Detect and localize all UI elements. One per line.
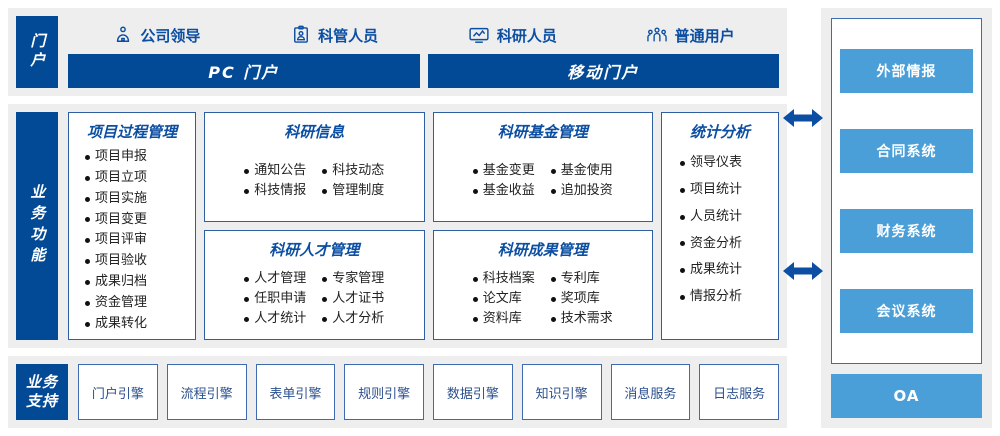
list-item[interactable]: 资料库 <box>473 310 535 329</box>
list-item[interactable]: 通知公告 <box>244 162 306 181</box>
support-label-line2: 支持 <box>26 392 58 412</box>
list-item[interactable]: 追加投资 <box>551 182 613 201</box>
business-functions-label: 业务功能 <box>16 112 58 340</box>
role-company-leader[interactable]: 公司领导 <box>68 25 246 46</box>
service-message[interactable]: 消息服务 <box>611 364 691 420</box>
card-column-fund: 科研基金管理 基金变更 基金使用 基金收益 追加投资 科研成果管理 科技档案 专… <box>433 112 654 340</box>
service-log[interactable]: 日志服务 <box>699 364 779 420</box>
engine-knowledge[interactable]: 知识引擎 <box>522 364 602 420</box>
list-item[interactable]: 基金收益 <box>473 182 535 201</box>
list-item[interactable]: 资金分析 <box>680 235 772 254</box>
role-label: 科管人员 <box>318 25 378 46</box>
role-researcher[interactable]: 科研人员 <box>424 25 602 46</box>
card-research-achievement[interactable]: 科研成果管理 科技档案 专利库 论文库 奖项库 资料库 技术需求 <box>433 230 654 340</box>
list-item[interactable]: 项目验收 <box>85 252 189 271</box>
engine-workflow[interactable]: 流程引擎 <box>167 364 247 420</box>
external-system-oa[interactable]: OA <box>831 374 982 418</box>
user-leader-icon <box>113 25 133 45</box>
list-item[interactable]: 奖项库 <box>551 290 613 309</box>
role-research-admin[interactable]: 科管人员 <box>246 25 424 46</box>
list-item[interactable]: 专利库 <box>551 270 613 289</box>
engine-list: 门户引擎 流程引擎 表单引擎 规则引擎 数据引擎 知识引擎 消息服务 日志服务 <box>78 364 779 420</box>
list-item[interactable]: 基金变更 <box>473 162 535 181</box>
business-support-label: 业务 支持 <box>16 364 68 420</box>
external-system-meeting[interactable]: 会议系统 <box>840 289 973 333</box>
external-systems-column: 外部情报 合同系统 财务系统 会议系统 OA <box>795 0 1000 436</box>
list-item[interactable]: 任职申请 <box>244 290 306 309</box>
role-label: 公司领导 <box>140 25 200 46</box>
list-item[interactable]: 资金管理 <box>85 294 189 313</box>
card-item-grid: 基金变更 基金使用 基金收益 追加投资 <box>473 148 613 215</box>
card-item-list: 项目申报 项目立项 项目实施 项目变更 项目评审 项目验收 成果归档 资金管理 … <box>75 148 189 334</box>
card-research-talent[interactable]: 科研人才管理 人才管理 专家管理 任职申请 人才证书 人才统计 人才分析 <box>204 230 425 340</box>
engine-data[interactable]: 数据引擎 <box>433 364 513 420</box>
portal-bar-mobile[interactable]: 移动门户 <box>428 54 780 88</box>
main-column: 门户 公司领导 <box>0 0 795 436</box>
card-title: 项目过程管理 <box>87 121 177 142</box>
card-statistics-analysis[interactable]: 统计分析 领导仪表 项目统计 人员统计 资金分析 成果统计 情报分析 <box>661 112 779 340</box>
portal-bars: PC 门户 移动门户 <box>68 54 779 88</box>
card-research-info[interactable]: 科研信息 通知公告 科技动态 科技情报 管理制度 <box>204 112 425 222</box>
card-item-grid: 科技档案 专利库 论文库 奖项库 资料库 技术需求 <box>473 266 613 333</box>
card-title: 科研信息 <box>284 121 344 142</box>
id-badge-icon <box>291 25 311 45</box>
card-title: 科研成果管理 <box>498 239 588 260</box>
list-item[interactable]: 成果归档 <box>85 273 189 292</box>
list-item[interactable]: 项目评审 <box>85 231 189 250</box>
user-group-icon <box>646 25 668 45</box>
role-label: 科研人员 <box>497 25 557 46</box>
list-item[interactable]: 人才证书 <box>322 290 384 309</box>
list-item[interactable]: 人才分析 <box>322 310 384 329</box>
card-column-research: 科研信息 通知公告 科技动态 科技情报 管理制度 科研人才管理 人才管理 专家管… <box>204 112 425 340</box>
list-item[interactable]: 论文库 <box>473 290 535 309</box>
portal-bar-pc[interactable]: PC 门户 <box>68 54 420 88</box>
card-item-grid: 人才管理 专家管理 任职申请 人才证书 人才统计 人才分析 <box>244 266 384 333</box>
engine-portal[interactable]: 门户引擎 <box>78 364 158 420</box>
engine-rule[interactable]: 规则引擎 <box>344 364 424 420</box>
external-system-finance[interactable]: 财务系统 <box>840 209 973 253</box>
business-support-band: 业务 支持 门户引擎 流程引擎 表单引擎 规则引擎 数据引擎 知识引擎 消息服务… <box>8 356 787 428</box>
portal-band: 门户 公司领导 <box>8 8 787 96</box>
list-item[interactable]: 领导仪表 <box>680 154 772 173</box>
card-title: 科研基金管理 <box>498 121 588 142</box>
list-item[interactable]: 成果统计 <box>680 261 772 280</box>
card-research-fund[interactable]: 科研基金管理 基金变更 基金使用 基金收益 追加投资 <box>433 112 654 222</box>
list-item[interactable]: 项目变更 <box>85 211 189 230</box>
list-item[interactable]: 人员统计 <box>680 208 772 227</box>
portal-role-row: 公司领导 科管人员 <box>68 16 779 54</box>
list-item[interactable]: 科技情报 <box>244 182 306 201</box>
portal-band-label: 门户 <box>16 16 58 88</box>
external-systems-box: 外部情报 合同系统 财务系统 会议系统 <box>831 18 982 364</box>
external-system-intelligence[interactable]: 外部情报 <box>840 49 973 93</box>
card-item-list: 领导仪表 项目统计 人员统计 资金分析 成果统计 情报分析 <box>668 154 772 307</box>
list-item[interactable]: 情报分析 <box>680 288 772 307</box>
list-item[interactable]: 基金使用 <box>551 162 613 181</box>
support-label-line1: 业务 <box>26 373 58 393</box>
card-title: 科研人才管理 <box>269 239 359 260</box>
list-item[interactable]: 项目实施 <box>85 190 189 209</box>
list-item[interactable]: 项目统计 <box>680 181 772 200</box>
business-functions-band: 业务功能 项目过程管理 项目申报 项目立项 项目实施 项目变更 项目评审 项目验… <box>8 104 787 348</box>
list-item[interactable]: 科技档案 <box>473 270 535 289</box>
role-label: 普通用户 <box>675 25 735 46</box>
list-item[interactable]: 技术需求 <box>551 310 613 329</box>
card-item-grid: 通知公告 科技动态 科技情报 管理制度 <box>244 148 384 215</box>
function-cards-area: 项目过程管理 项目申报 项目立项 项目实施 项目变更 项目评审 项目验收 成果归… <box>68 112 779 340</box>
card-title: 统计分析 <box>690 121 750 142</box>
list-item[interactable]: 人才管理 <box>244 270 306 289</box>
list-item[interactable]: 人才统计 <box>244 310 306 329</box>
card-project-process[interactable]: 项目过程管理 项目申报 项目立项 项目实施 项目变更 项目评审 项目验收 成果归… <box>68 112 196 340</box>
list-item[interactable]: 项目申报 <box>85 148 189 167</box>
list-item[interactable]: 专家管理 <box>322 270 384 289</box>
engine-form[interactable]: 表单引擎 <box>256 364 336 420</box>
external-systems-band: 外部情报 合同系统 财务系统 会议系统 OA <box>821 8 992 428</box>
portal-content: 公司领导 科管人员 <box>68 16 779 88</box>
architecture-diagram: 门户 公司领导 <box>0 0 1000 436</box>
role-general-user[interactable]: 普通用户 <box>601 25 779 46</box>
list-item[interactable]: 管理制度 <box>322 182 384 201</box>
list-item[interactable]: 成果转化 <box>85 315 189 334</box>
list-item[interactable]: 项目立项 <box>85 169 189 188</box>
chart-monitor-icon <box>468 25 490 45</box>
list-item[interactable]: 科技动态 <box>322 162 384 181</box>
external-system-contract[interactable]: 合同系统 <box>840 129 973 173</box>
